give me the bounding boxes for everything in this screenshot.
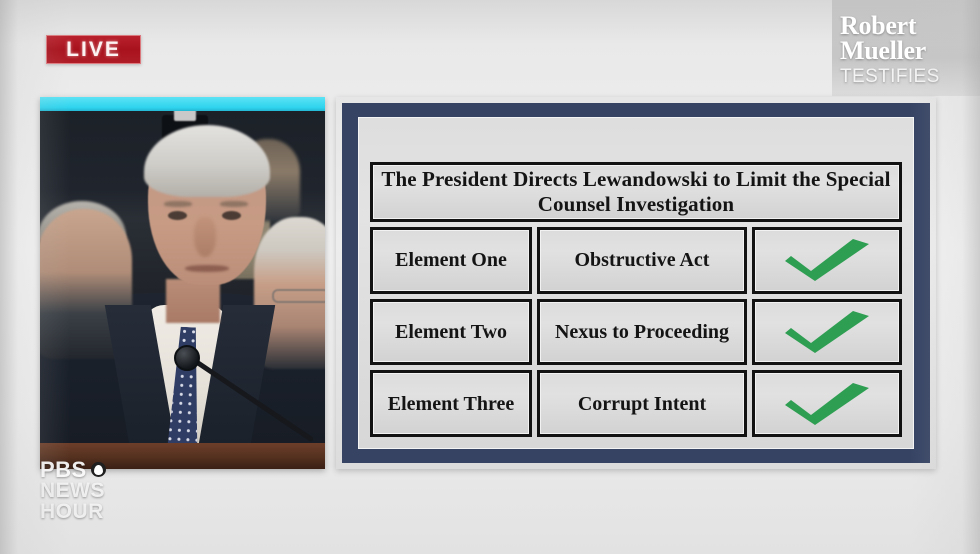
row-2-check-cell: [752, 299, 902, 366]
row-3-label: Corrupt Intent: [537, 370, 747, 437]
row-3-check-cell: [752, 370, 902, 437]
pbs-head-icon: [91, 462, 106, 477]
row-2-label: Nexus to Proceeding: [537, 299, 747, 366]
table-row: Element One Obstructive Act: [370, 227, 902, 294]
pbs-label: PBS: [40, 459, 87, 480]
witness-eye-right: [222, 211, 241, 220]
video-feed: [40, 97, 325, 469]
broadcast-screen: LIVE Robert Mueller TESTIFIES: [0, 0, 980, 554]
row-3-element: Element Three: [370, 370, 532, 437]
info-graphic-panel: The President Directs Lewandowski to Lim…: [336, 97, 936, 469]
check-icon: [781, 237, 873, 283]
row-2-element: Element Two: [370, 299, 532, 366]
newshour-line-2: HOUR: [40, 501, 106, 522]
graphic-inner-panel: The President Directs Lewandowski to Lim…: [358, 117, 914, 449]
graphic-navy-border: The President Directs Lewandowski to Lim…: [342, 103, 930, 463]
right-person-glasses: [272, 289, 325, 303]
check-icon: [781, 309, 873, 355]
witness-eye-left: [168, 211, 187, 220]
cyan-band: [40, 97, 325, 111]
table-row: Element Three Corrupt Intent: [370, 370, 902, 437]
pbs-newshour-logo: PBS NEWS HOUR: [40, 459, 106, 522]
row-1-check-cell: [752, 227, 902, 294]
row-1-label: Obstructive Act: [537, 227, 747, 294]
newshour-line-1: NEWS: [40, 480, 106, 501]
pbs-wordmark: PBS: [40, 459, 106, 480]
program-banner: Robert Mueller TESTIFIES: [832, 0, 980, 96]
live-label: LIVE: [66, 39, 121, 60]
witness-brow-right: [220, 201, 248, 207]
banner-line-3: TESTIFIES: [840, 66, 966, 88]
witness-mouth: [185, 265, 229, 272]
witness-brow-left: [164, 201, 192, 207]
live-badge: LIVE: [46, 35, 141, 64]
graphic-top-spacer: [370, 128, 902, 162]
graphic-title: The President Directs Lewandowski to Lim…: [370, 162, 902, 222]
check-icon: [781, 381, 873, 427]
banner-line-1: Robert: [840, 13, 966, 38]
table-row: Element Two Nexus to Proceeding: [370, 299, 902, 366]
witness-nose: [194, 217, 216, 257]
banner-line-2: Mueller: [840, 38, 966, 63]
witness-neck: [166, 279, 220, 323]
row-1-element: Element One: [370, 227, 532, 294]
microphone-head: [174, 345, 200, 371]
